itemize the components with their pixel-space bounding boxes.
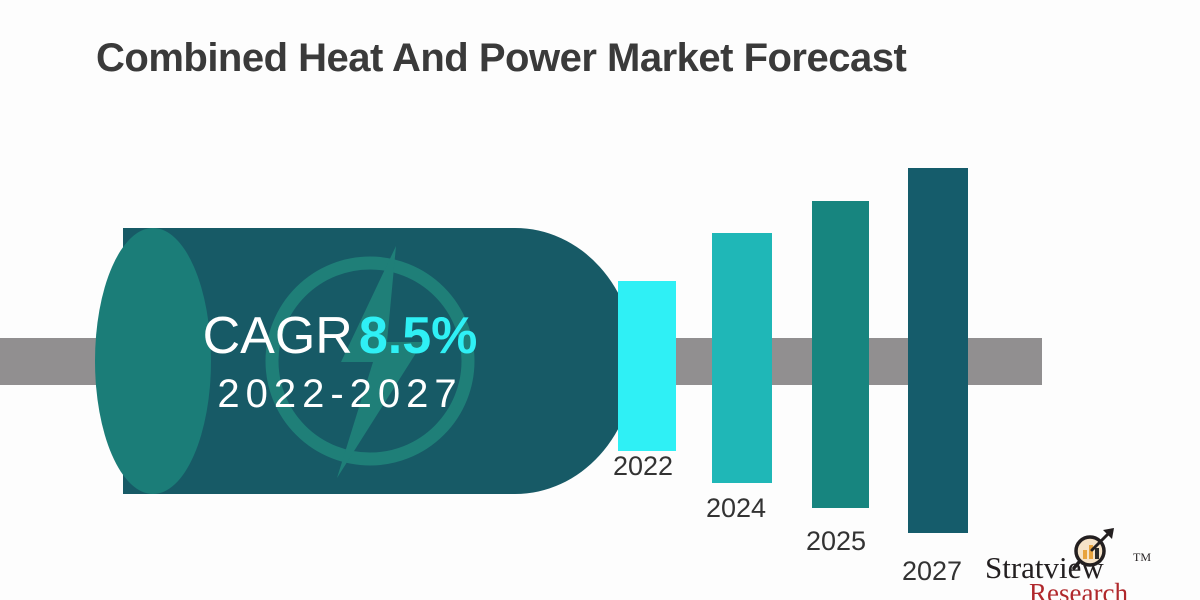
bar-2022	[618, 281, 676, 451]
cagr-value: 8.5%	[359, 307, 478, 365]
bar-label-2025: 2025	[806, 526, 866, 557]
cagr-text-block: CAGR8.5% 2022-2027	[150, 310, 530, 414]
infographic-canvas: Combined Heat And Power Market Forecast …	[0, 0, 1200, 600]
bar-label-2022: 2022	[613, 451, 673, 482]
connector-band-5	[967, 338, 1042, 385]
bar-label-2024: 2024	[706, 493, 766, 524]
brand-logo[interactable]: Stratview TM Research	[985, 524, 1195, 600]
logo-trademark: TM	[1133, 550, 1151, 565]
page-title: Combined Heat And Power Market Forecast	[96, 36, 1136, 81]
bar-label-2027: 2027	[902, 556, 962, 587]
connector-band-4	[868, 338, 909, 385]
cagr-prefix-label: CAGR	[203, 307, 353, 365]
bar-2025	[812, 201, 869, 508]
cagr-period: 2022-2027	[150, 374, 530, 414]
bar-2024	[712, 233, 772, 483]
connector-band-3	[772, 338, 813, 385]
bar-2027	[908, 168, 968, 533]
connector-band-2	[676, 338, 713, 385]
logo-subtitle: Research	[1029, 578, 1128, 600]
